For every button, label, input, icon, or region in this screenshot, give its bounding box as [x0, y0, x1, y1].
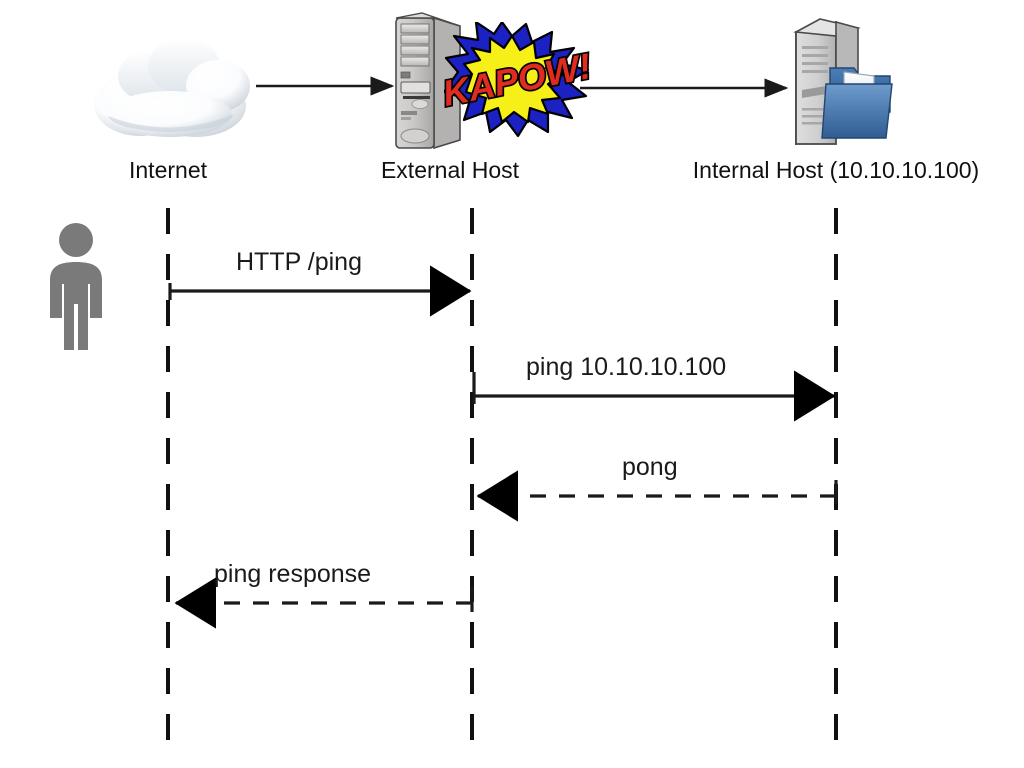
message-label-http-ping: HTTP /ping — [236, 248, 362, 277]
message-label-pong: pong — [622, 453, 678, 482]
person-icon — [40, 222, 112, 352]
message-label-ping-response: ping response — [214, 560, 371, 589]
diagram-canvas — [0, 0, 1024, 768]
message-label-ping-ip: ping 10.10.10.100 — [526, 353, 726, 382]
